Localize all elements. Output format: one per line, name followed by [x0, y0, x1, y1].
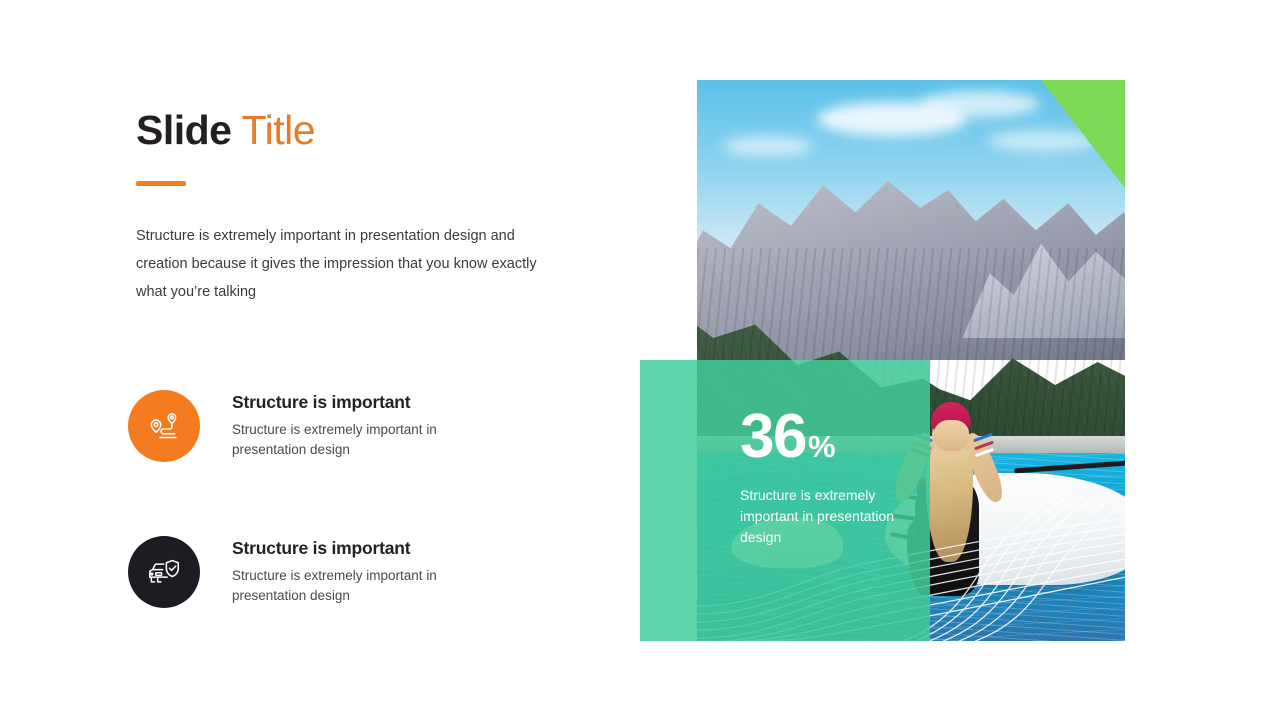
list-item[interactable]: Structure is important Structure is extr…: [128, 388, 608, 462]
person-hands: [934, 420, 969, 451]
presentation-slide: Slide Title Structure is extremely impor…: [0, 0, 1280, 720]
page-title-main: Slide: [136, 107, 231, 153]
feature-heading: Structure is important: [232, 538, 492, 559]
stat-number: 36: [740, 408, 806, 465]
stat-panel-solid-edge: [640, 360, 697, 641]
feature-text-block: Structure is important Structure is extr…: [232, 388, 492, 460]
cloud: [920, 91, 1040, 117]
route-map-pin-icon: [128, 390, 200, 462]
feature-description: Structure is extremely important in pres…: [232, 566, 492, 606]
list-item[interactable]: Structure is important Structure is extr…: [128, 534, 608, 608]
page-title: Slide Title: [136, 108, 606, 153]
cloud: [723, 136, 813, 156]
stat-caption: Structure is extremely important in pres…: [740, 485, 905, 548]
left-content-column: Slide Title Structure is extremely impor…: [136, 108, 606, 306]
stat-unit: %: [808, 429, 836, 465]
stat-content: 36 % Structure is extremely important in…: [740, 408, 915, 548]
feature-text-block: Structure is important Structure is extr…: [232, 534, 492, 606]
feature-description: Structure is extremely important in pres…: [232, 420, 492, 460]
feature-heading: Structure is important: [232, 392, 492, 413]
intro-paragraph: Structure is extremely important in pres…: [136, 222, 551, 306]
stat-value-row: 36 %: [740, 408, 915, 465]
feature-list: Structure is important Structure is extr…: [128, 388, 608, 608]
page-title-accent: Title: [242, 107, 315, 153]
title-underline-rule: [136, 181, 186, 186]
car-shield-check-icon: [128, 536, 200, 608]
